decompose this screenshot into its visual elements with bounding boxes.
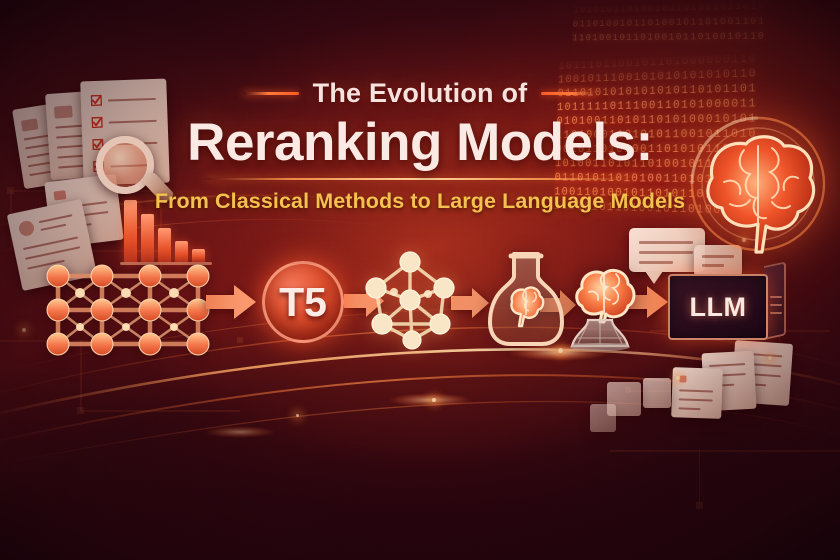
brain-pedestal-icon [554, 248, 646, 352]
title-block: The Evolution of Reranking Models: From … [0, 78, 840, 214]
rule-right [541, 92, 597, 95]
glow-spark [432, 398, 436, 402]
bar-item [141, 214, 154, 262]
page-title: Reranking Models: [0, 112, 840, 173]
glow-spark [768, 356, 772, 360]
glow-spark [296, 414, 299, 417]
rule-left [243, 92, 299, 95]
eyebrow-text: The Evolution of [313, 78, 528, 109]
llm-box: LLM [668, 266, 786, 340]
page-subtitle: From Classical Methods to Large Language… [0, 189, 840, 214]
bar-item [158, 228, 171, 262]
list-item [671, 367, 723, 419]
list-item [643, 378, 671, 408]
arrow-right-icon [206, 285, 256, 319]
llm-label: LLM [690, 292, 747, 323]
poster-canvas: 101010110100101101001011010 011010010110… [0, 0, 840, 560]
t5-label: T5 [279, 279, 327, 326]
glow-spark [676, 376, 680, 380]
list-item [590, 404, 616, 432]
glow-spark [22, 328, 26, 332]
llm-box-face: LLM [668, 274, 768, 340]
t5-badge: T5 [262, 261, 344, 343]
title-underglow [205, 178, 635, 180]
eyebrow-row: The Evolution of [0, 78, 840, 109]
graph-network-icon [358, 248, 462, 352]
neural-network-grid [40, 258, 220, 362]
